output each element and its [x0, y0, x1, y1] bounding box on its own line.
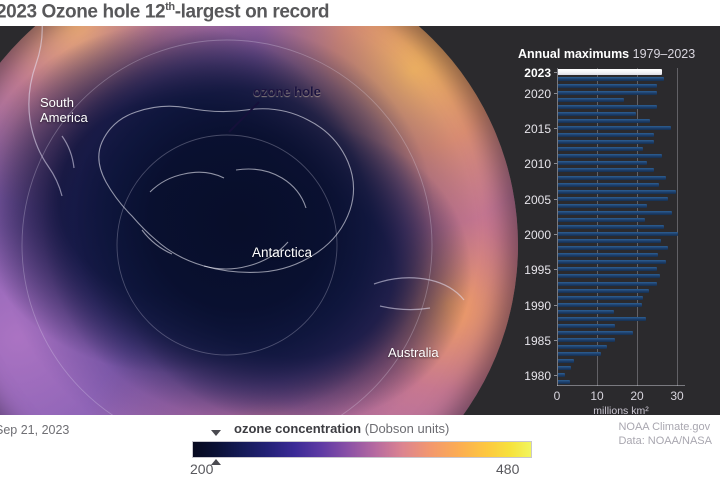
bar-2017	[558, 112, 636, 116]
bar-1985	[558, 338, 615, 342]
colorbar-title: ozone concentration (Dobson units)	[234, 421, 449, 436]
map-label-antarctica: Antarctica	[252, 245, 312, 260]
bar-2000	[558, 232, 678, 236]
colorbar-gradient	[192, 441, 532, 458]
figure-area: South America Antarctica Australia ozone…	[0, 26, 720, 415]
bar-2021	[558, 84, 657, 88]
bar-2007	[558, 183, 659, 187]
bar-2022	[558, 77, 664, 81]
bar-2012	[558, 147, 643, 151]
y-tickmark-2015	[554, 128, 557, 129]
y-tickmark-1980	[554, 375, 557, 376]
map-annotation-ozone-hole: ozone hole	[253, 84, 321, 99]
colorbar-title-units: (Dobson units)	[361, 421, 449, 436]
bar-1992	[558, 289, 649, 293]
credit-line-2: Data: NOAA/NASA	[618, 434, 712, 448]
bar-2020	[558, 91, 657, 95]
bar-2011	[558, 154, 662, 158]
x-tick-0: 0	[554, 389, 561, 403]
y-tick-2023: 2023	[524, 66, 551, 80]
y-tick-1990: 1990	[524, 299, 551, 313]
bar-2009	[558, 168, 654, 172]
bar-1984	[558, 345, 607, 349]
bar-1982	[558, 359, 574, 363]
bar-1987	[558, 324, 615, 328]
title-prefix: 2023 Ozone hole 12	[0, 1, 165, 22]
y-tickmark-2010	[554, 163, 557, 164]
y-tickmark-2020	[554, 93, 557, 94]
source-credit: NOAA Climate.gov Data: NOAA/NASA	[618, 420, 712, 448]
bar-1994	[558, 274, 660, 278]
y-tick-1985: 1985	[524, 334, 551, 348]
bar-1979	[558, 380, 570, 384]
bar-1981	[558, 366, 571, 370]
bottom-bar: Sep 21, 2023 ozone concentration (Dobson…	[0, 415, 720, 478]
ozone-hole-leader-line	[228, 99, 262, 133]
chart-plot-area: 2023202020152010200520001995199019851980…	[557, 68, 685, 386]
y-tickmark-2000	[554, 234, 557, 235]
bar-2023	[558, 69, 662, 75]
y-tick-1995: 1995	[524, 263, 551, 277]
annual-maximums-chart: Annual maximums 1979–2023 20232020201520…	[500, 26, 720, 415]
chart-x-axis	[557, 385, 685, 386]
map-date-label: Sep 21, 2023	[0, 423, 69, 437]
bar-1999	[558, 239, 661, 243]
bar-1995	[558, 267, 657, 271]
y-tick-2020: 2020	[524, 87, 551, 101]
bar-1988	[558, 317, 646, 321]
bar-1990	[558, 303, 642, 307]
chart-x-axis-title: millions km²	[593, 405, 648, 415]
bar-1989	[558, 310, 614, 314]
bar-2018	[558, 105, 657, 109]
bar-1998	[558, 246, 668, 250]
x-tick-10: 10	[590, 389, 603, 403]
chart-title: Annual maximums 1979–2023	[518, 47, 695, 61]
bar-1980	[558, 373, 565, 377]
bar-2016	[558, 119, 650, 123]
bar-1996	[558, 260, 666, 264]
x-tick-30: 30	[670, 389, 683, 403]
colorbar-threshold-marker-top	[211, 430, 221, 436]
title-ordinal-suffix: th	[165, 1, 175, 13]
y-tickmark-1995	[554, 269, 557, 270]
bar-2005	[558, 197, 668, 201]
y-tickmark-2023	[554, 72, 557, 73]
bar-2013	[558, 140, 654, 144]
title-suffix: -largest on record	[175, 1, 329, 22]
bar-2006	[558, 190, 676, 194]
bar-1983	[558, 352, 601, 356]
title-bar: 2023 Ozone hole 12th-largest on record	[0, 0, 720, 26]
bar-1997	[558, 253, 658, 257]
chart-title-bold: Annual maximums	[518, 47, 629, 61]
bar-1991	[558, 296, 643, 300]
bar-2014	[558, 133, 654, 137]
gridline-30	[677, 68, 678, 386]
x-tick-20: 20	[630, 389, 643, 403]
colorbar-legend: ozone concentration (Dobson units) 200 4…	[188, 415, 538, 478]
bar-1993	[558, 282, 657, 286]
y-tickmark-1990	[554, 305, 557, 306]
bar-2004	[558, 204, 647, 208]
map-label-south-america-line1: South	[40, 96, 88, 111]
bar-2019	[558, 98, 624, 102]
page-title: 2023 Ozone hole 12th-largest on record	[0, 1, 329, 23]
y-tick-2010: 2010	[524, 157, 551, 171]
bar-2008	[558, 176, 666, 180]
bar-2002	[558, 218, 645, 222]
colorbar-title-bold: ozone concentration	[234, 421, 361, 436]
y-tick-2000: 2000	[524, 228, 551, 242]
map-label-australia: Australia	[388, 346, 439, 361]
credit-line-1: NOAA Climate.gov	[618, 420, 712, 434]
y-tick-2005: 2005	[524, 193, 551, 207]
y-tick-2015: 2015	[524, 122, 551, 136]
bar-2003	[558, 211, 672, 215]
map-label-south-america: South America	[40, 96, 88, 125]
bar-1986	[558, 331, 633, 335]
colorbar-max-label: 480	[496, 461, 519, 477]
y-tick-1980: 1980	[524, 369, 551, 383]
y-tickmark-1985	[554, 340, 557, 341]
chart-title-range: 1979–2023	[633, 47, 696, 61]
colorbar-min-label: 200	[190, 461, 213, 477]
bar-2001	[558, 225, 664, 229]
y-tickmark-2005	[554, 199, 557, 200]
bar-2010	[558, 161, 647, 165]
bar-2015	[558, 126, 671, 130]
map-label-south-america-line2: America	[40, 111, 88, 126]
